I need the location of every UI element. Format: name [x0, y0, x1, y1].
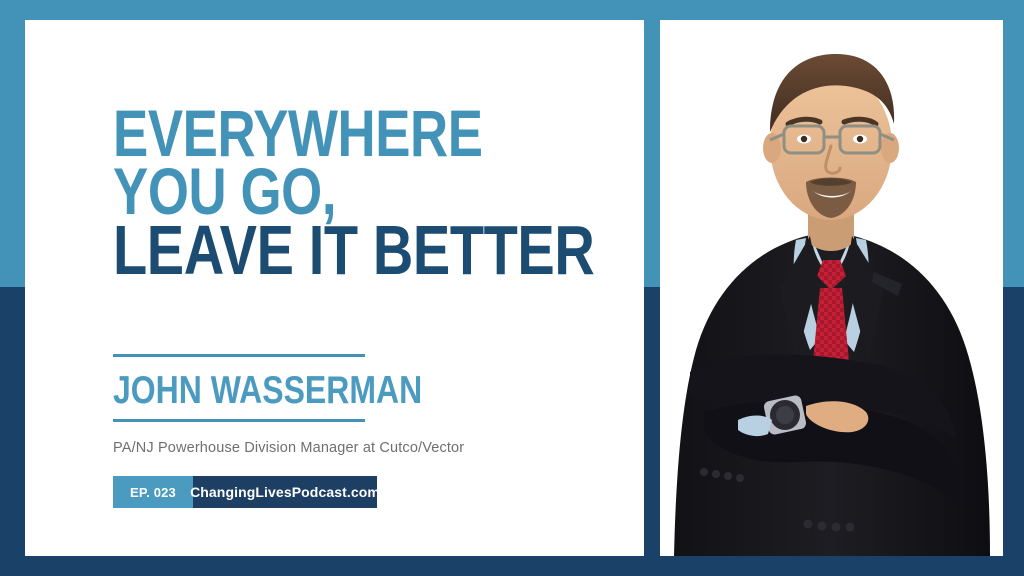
divider-above-name: [113, 354, 365, 357]
episode-headline: EVERYWHERE YOU GO, LEAVE IT BETTER: [113, 104, 529, 282]
episode-number-label: EP. 023: [113, 476, 193, 508]
podcast-episode-graphic: EVERYWHERE YOU GO, LEAVE IT BETTER JOHN …: [0, 0, 1024, 576]
guest-name: JOHN WASSERMAN: [113, 371, 422, 410]
guest-title: PA/NJ Powerhouse Division Manager at Cut…: [113, 440, 464, 456]
headline-line-3: LEAVE IT BETTER: [113, 220, 529, 282]
guest-photo: [660, 20, 1003, 556]
divider-below-name: [113, 419, 365, 422]
episode-badge: EP. 023 ChangingLivesPodcast.com: [113, 476, 377, 508]
shirt-cuff: [738, 416, 772, 437]
podcast-website-label[interactable]: ChangingLivesPodcast.com: [193, 476, 377, 508]
text-panel: EVERYWHERE YOU GO, LEAVE IT BETTER JOHN …: [25, 20, 644, 556]
